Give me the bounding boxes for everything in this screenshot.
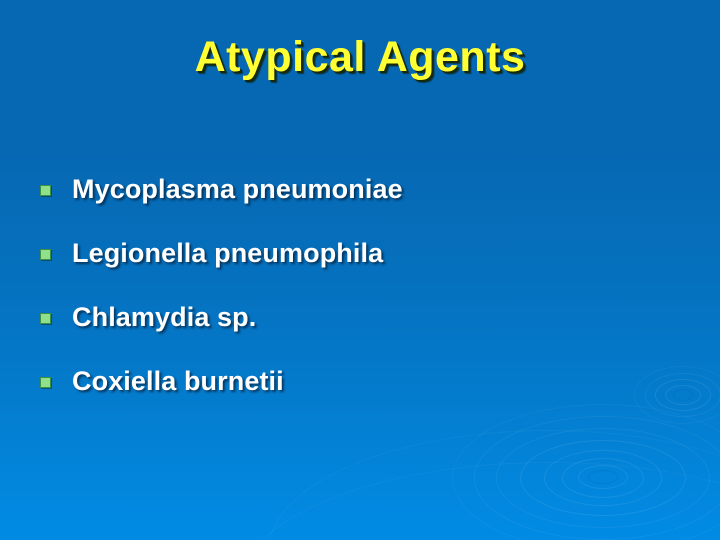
list-item-label: Coxiella burnetii: [72, 364, 680, 398]
green-square-bullet-icon: [40, 377, 51, 388]
ripple-ring-core: [588, 470, 618, 484]
ripple-ring: [496, 428, 710, 528]
slide-title: Atypical Agents: [195, 34, 526, 81]
list-item: Legionella pneumophila: [40, 236, 680, 300]
ripple-ring: [520, 440, 686, 516]
list-item-label: Mycoplasma pneumoniae: [72, 172, 680, 206]
ripple-ring-inner: [578, 465, 628, 489]
title-block: Atypical Agents: [0, 34, 720, 81]
green-square-bullet-icon: [40, 313, 51, 324]
ripple-arc-wide: [238, 462, 720, 540]
green-square-bullet-icon: [40, 185, 51, 196]
list-item: Coxiella burnetii: [40, 364, 680, 428]
ripple-ring: [544, 450, 662, 506]
list-item-label: Chlamydia sp.: [72, 300, 680, 334]
bullet-list: Mycoplasma pneumoniae Legionella pneumop…: [40, 172, 680, 428]
green-square-bullet-icon: [40, 249, 51, 260]
ripple-arc-wide: [268, 430, 720, 540]
presentation-slide: Atypical Agents Mycoplasma pneumoniae Le…: [0, 0, 720, 540]
list-item-label: Legionella pneumophila: [72, 236, 680, 270]
ripple-ring: [474, 416, 720, 540]
list-item: Mycoplasma pneumoniae: [40, 172, 680, 236]
list-item: Chlamydia sp.: [40, 300, 680, 364]
ripple-ring: [562, 458, 644, 498]
